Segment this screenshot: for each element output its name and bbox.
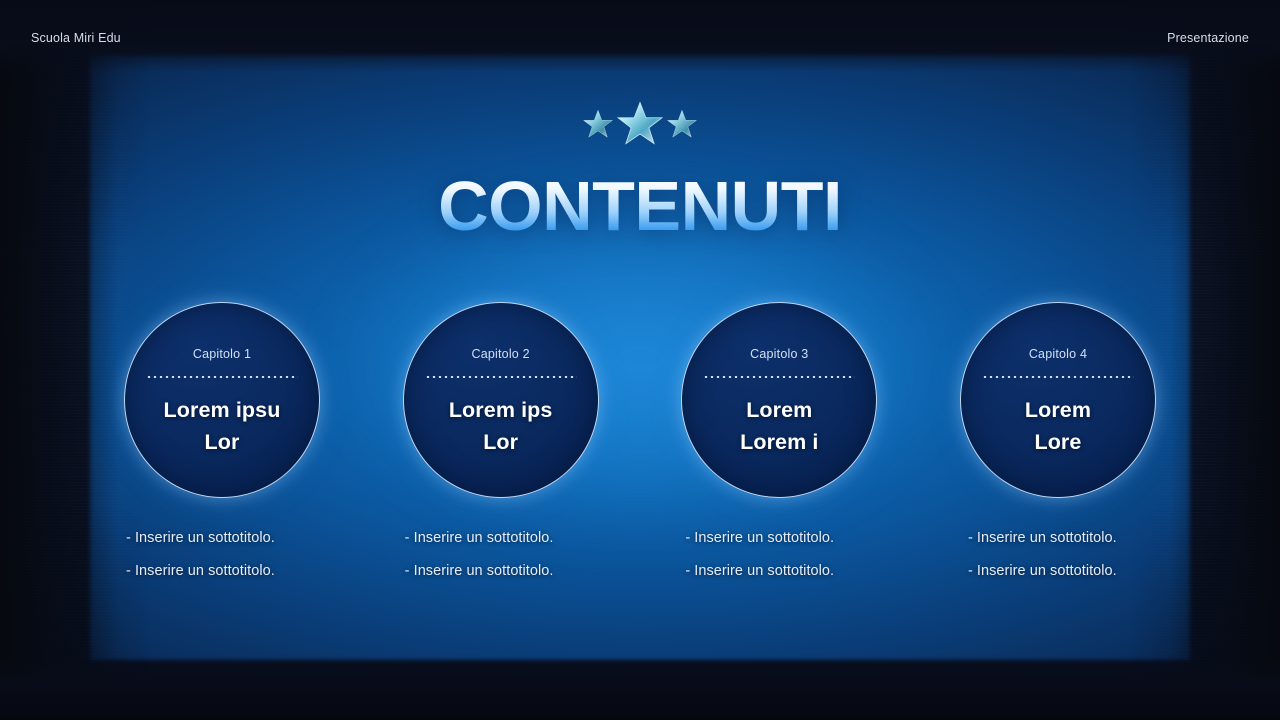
chapter-title-line2: Lor [205, 430, 240, 454]
chapter-column-2[interactable]: Capitolo 2 Lorem ips Lor - Inserire un s… [397, 302, 605, 580]
dotted-divider-1 [146, 376, 298, 378]
chapter-column-1[interactable]: Capitolo 1 Lorem ipsu Lor - Inserire un … [118, 302, 326, 580]
chapters-row: Capitolo 1 Lorem ipsu Lor - Inserire un … [118, 302, 1162, 580]
star-icon-right [666, 109, 698, 141]
chapter-circle-1[interactable]: Capitolo 1 Lorem ipsu Lor [124, 302, 320, 498]
page-title: CONTENUTI [0, 169, 1280, 243]
chapter-title-line2: Lor [483, 430, 518, 454]
slide-canvas: Scuola Miri Edu Presentazione [0, 0, 1280, 720]
brand-label: Scuola Miri Edu [31, 31, 121, 45]
chapter-column-3[interactable]: Capitolo 3 Lorem Lorem i - Inserire un s… [675, 302, 883, 580]
dotted-divider-4 [982, 376, 1134, 378]
chapter-subtitles-2: - Inserire un sottotitolo. - Inserire un… [397, 529, 605, 580]
dotted-divider-2 [425, 376, 577, 378]
subtitle-item: - Inserire un sottotitolo. [126, 562, 326, 580]
chapter-title-3: Lorem Lorem i [726, 394, 832, 458]
subtitle-item: - Inserire un sottotitolo. [405, 562, 605, 580]
chapter-subtitles-1: - Inserire un sottotitolo. - Inserire un… [118, 529, 326, 580]
chapter-circle-2[interactable]: Capitolo 2 Lorem ips Lor [403, 302, 599, 498]
chapter-title-line2: Lore [1034, 430, 1081, 454]
chapter-title-2: Lorem ips Lor [435, 394, 567, 458]
chapter-label-1: Capitolo 1 [193, 347, 251, 361]
chapter-circle-3[interactable]: Capitolo 3 Lorem Lorem i [681, 302, 877, 498]
chapter-title-line2: Lorem i [740, 430, 818, 454]
chapter-label-3: Capitolo 3 [750, 347, 808, 361]
chapter-subtitles-3: - Inserire un sottotitolo. - Inserire un… [675, 529, 883, 580]
dotted-divider-3 [703, 376, 855, 378]
chapter-circle-4[interactable]: Capitolo 4 Lorem Lore [960, 302, 1156, 498]
chapter-title-line1: Lorem ips [449, 398, 553, 422]
three-stars-icon [0, 101, 1280, 149]
subtitle-item: - Inserire un sottotitolo. [126, 529, 326, 547]
chapter-subtitles-4: - Inserire un sottotitolo. - Inserire un… [954, 529, 1162, 580]
chapter-title-line1: Lorem [746, 398, 812, 422]
chapter-title-4: Lorem Lore [1011, 394, 1105, 458]
chapter-title-line1: Lorem [1025, 398, 1091, 422]
frame-vignette-bottom [0, 658, 1280, 720]
chapter-label-4: Capitolo 4 [1029, 347, 1087, 361]
chapter-title-1: Lorem ipsu Lor [150, 394, 295, 458]
subtitle-item: - Inserire un sottotitolo. [685, 529, 883, 547]
chapter-title-line1: Lorem ipsu [164, 398, 281, 422]
star-icon-left [582, 109, 614, 141]
subtitle-item: - Inserire un sottotitolo. [968, 562, 1162, 580]
chapter-label-2: Capitolo 2 [472, 347, 530, 361]
star-icon-center [616, 101, 664, 149]
subtitle-item: - Inserire un sottotitolo. [405, 529, 605, 547]
subtitle-item: - Inserire un sottotitolo. [685, 562, 883, 580]
frame-vignette-top [0, 0, 1280, 72]
presentation-label: Presentazione [1167, 31, 1249, 45]
subtitle-item: - Inserire un sottotitolo. [968, 529, 1162, 547]
chapter-column-4[interactable]: Capitolo 4 Lorem Lore - Inserire un sott… [954, 302, 1162, 580]
